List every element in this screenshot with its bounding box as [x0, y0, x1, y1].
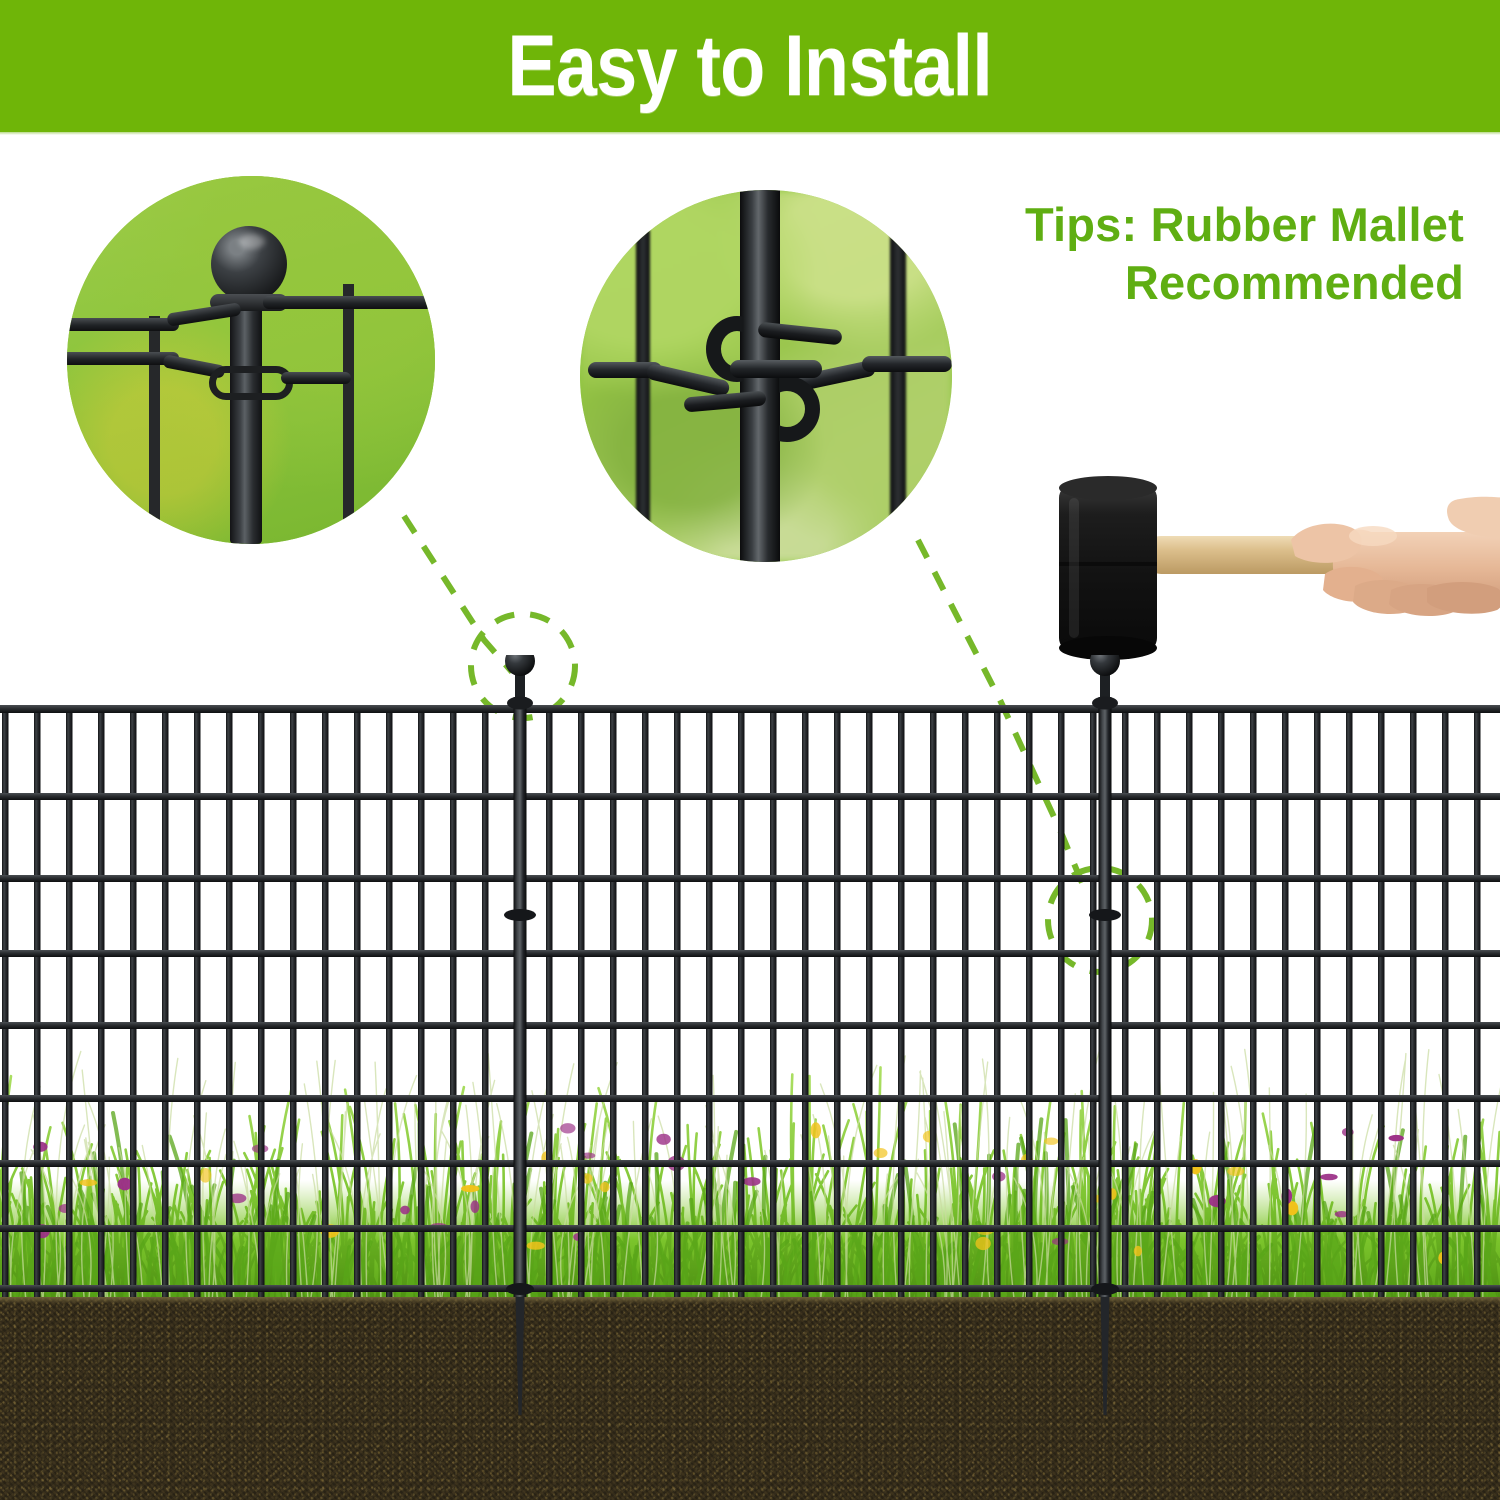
- finial-highlight: [239, 234, 265, 249]
- mallet-head: [1059, 476, 1157, 660]
- detail-upper-rail-left: [67, 318, 179, 331]
- tips-line-2: Recommended: [904, 254, 1464, 312]
- detail-bar-right: [343, 284, 354, 544]
- detail2-rail-right: [862, 356, 952, 372]
- detail-bar-left: [149, 316, 160, 544]
- fence-structure: [0, 655, 1500, 1500]
- post-finial-ball: [505, 655, 535, 676]
- page-title: Easy to Install: [508, 23, 992, 109]
- fence-scene: [0, 655, 1500, 1500]
- detail2-hook-center: [730, 360, 822, 378]
- post-ground-spike: [516, 1297, 525, 1415]
- detail-hook-ring: [209, 366, 293, 400]
- panel-connector-joint: [504, 909, 536, 921]
- detail-lower-rail-left: [67, 352, 179, 365]
- post-finial-ball: [1090, 655, 1120, 676]
- detail2-bar-far-right: [890, 220, 906, 540]
- panel-connector-joint: [1089, 909, 1121, 921]
- tips-line-1: Tips: Rubber Mallet: [1025, 198, 1464, 251]
- header-banner: Easy to Install: [0, 0, 1500, 132]
- post-ground-spike: [1101, 1297, 1110, 1415]
- detail-upper-rail-right: [263, 296, 435, 309]
- hand: [1291, 497, 1500, 616]
- callout-circle-finial: [67, 176, 435, 544]
- detail-lower-rail-right: [281, 372, 351, 384]
- tips-text: Tips: Rubber Mallet Recommended: [904, 196, 1464, 312]
- product-infographic: Easy to Install Tips: Rubber Mallet Reco…: [0, 0, 1500, 1500]
- rubber-mallet-illustration: [1035, 440, 1500, 665]
- detail2-bar-far-left: [636, 230, 650, 530]
- banner-divider: [0, 132, 1500, 135]
- detail-post: [230, 304, 262, 544]
- callout-circle-connector: [580, 190, 952, 562]
